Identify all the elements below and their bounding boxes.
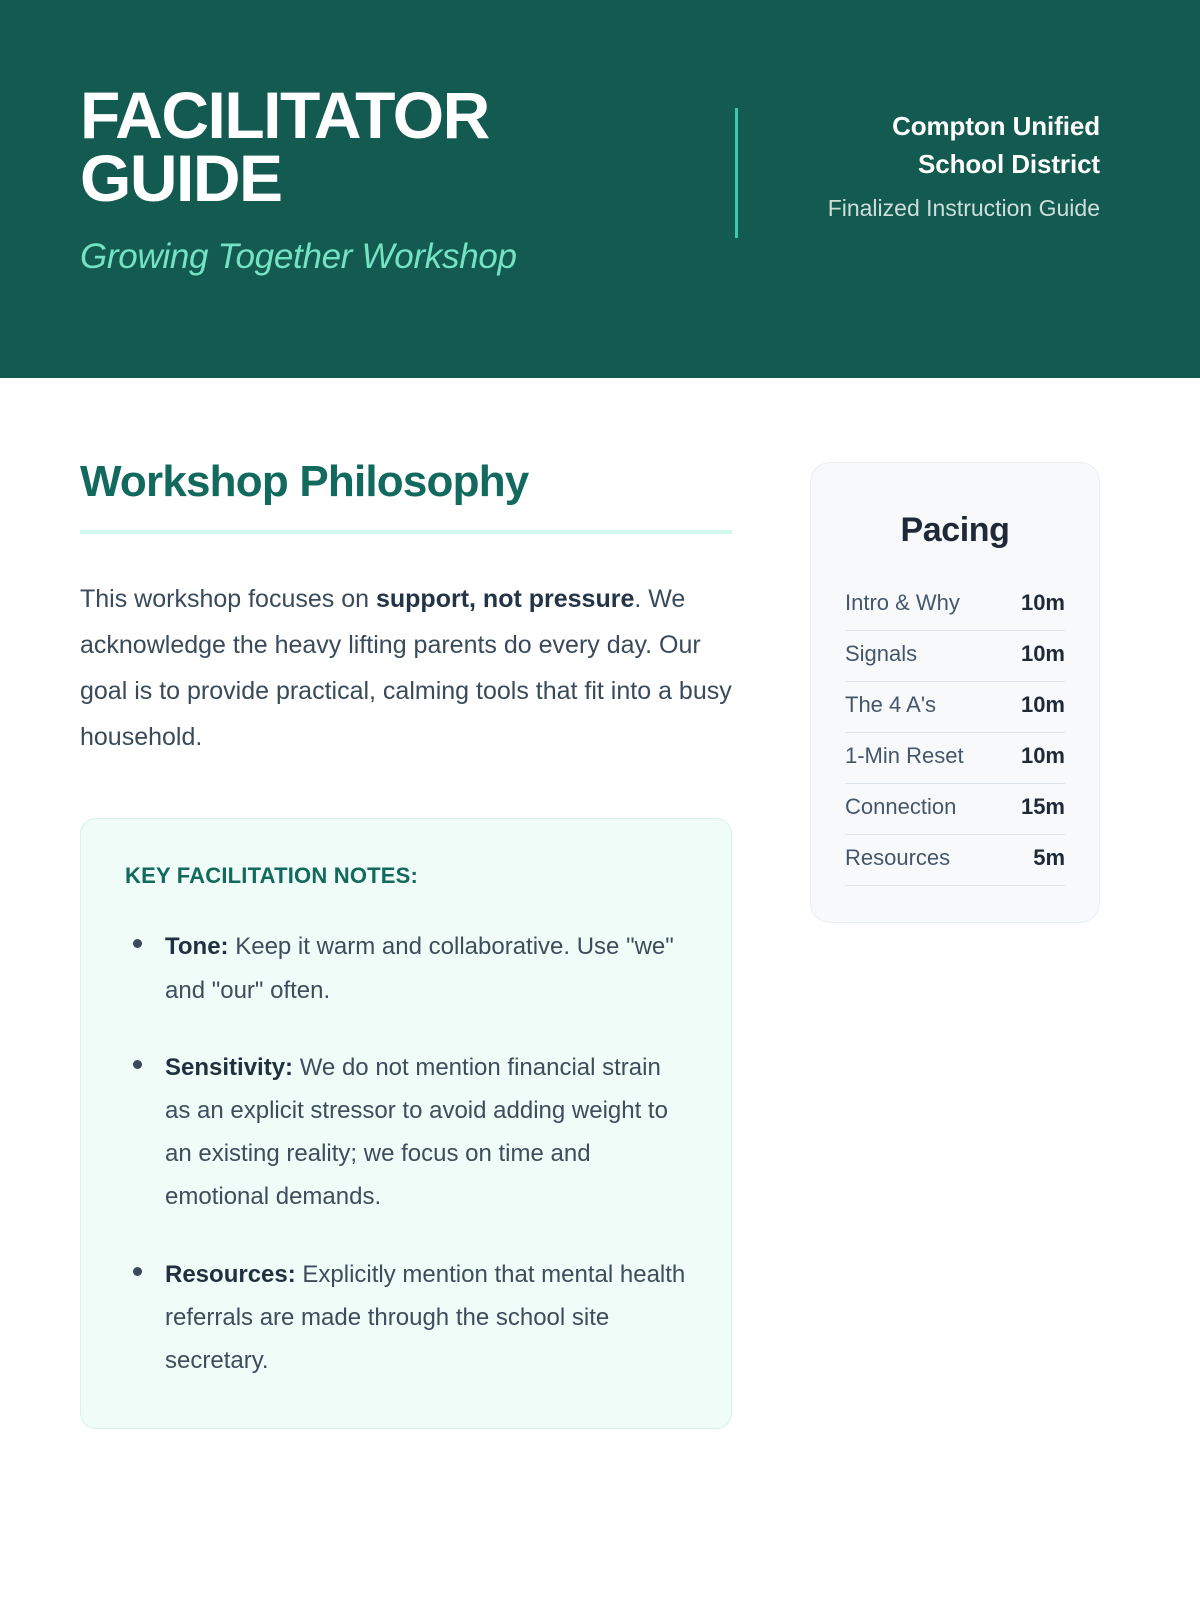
document-status-note: Finalized Instruction Guide: [828, 195, 1100, 222]
document-subtitle: Growing Together Workshop: [80, 237, 640, 277]
pacing-row-duration: 10m: [1021, 590, 1065, 616]
note-label: Sensitivity:: [165, 1054, 293, 1081]
pacing-row-duration: 15m: [1021, 794, 1065, 820]
note-text: Keep it warm and collaborative. Use "we"…: [165, 933, 674, 1003]
pacing-row: Resources 5m: [845, 835, 1065, 886]
bullet-icon: [133, 1267, 142, 1276]
pacing-row-label: Resources: [845, 845, 950, 871]
section-title-underline: [80, 530, 732, 534]
note-label: Tone:: [165, 933, 229, 960]
pacing-row-label: 1-Min Reset: [845, 743, 964, 769]
pacing-card-title: Pacing: [845, 511, 1065, 550]
main-column: Workshop Philosophy This workshop focuse…: [80, 458, 732, 1429]
pacing-row-label: Intro & Why: [845, 590, 960, 616]
header-left-block: FACILITATOR GUIDE Growing Together Works…: [80, 82, 640, 277]
pacing-row: The 4 A's 10m: [845, 682, 1065, 733]
organization-name-line1: Compton Unified: [828, 108, 1100, 146]
note-label: Resources:: [165, 1261, 296, 1288]
philosophy-paragraph: This workshop focuses on support, not pr…: [80, 576, 732, 760]
pacing-row-label: Connection: [845, 794, 956, 820]
list-item: Tone: Keep it warm and collaborative. Us…: [125, 925, 687, 1011]
content-area: Workshop Philosophy This workshop focuse…: [0, 378, 1200, 1429]
pacing-card: Pacing Intro & Why 10m Signals 10m The 4…: [810, 462, 1100, 923]
pacing-row: 1-Min Reset 10m: [845, 733, 1065, 784]
list-item: Sensitivity: We do not mention financial…: [125, 1046, 687, 1219]
pacing-row: Connection 15m: [845, 784, 1065, 835]
organization-name-line2: School District: [828, 146, 1100, 184]
pacing-row-duration: 10m: [1021, 743, 1065, 769]
pacing-row: Intro & Why 10m: [845, 580, 1065, 631]
bullet-icon: [133, 1060, 142, 1069]
pacing-row-duration: 10m: [1021, 692, 1065, 718]
facilitator-guide-page: FACILITATOR GUIDE Growing Together Works…: [0, 0, 1200, 1600]
bullet-icon: [133, 939, 142, 948]
pacing-row: Signals 10m: [845, 631, 1065, 682]
list-item: Resources: Explicitly mention that menta…: [125, 1253, 687, 1383]
key-facilitation-notes-card: KEY FACILITATION NOTES: Tone: Keep it wa…: [80, 818, 732, 1429]
section-title: Workshop Philosophy: [80, 458, 732, 506]
pacing-row-duration: 10m: [1021, 641, 1065, 667]
pacing-row-label: The 4 A's: [845, 692, 936, 718]
pacing-row-duration: 5m: [1033, 845, 1065, 871]
philosophy-text-part1: This workshop focuses on: [80, 585, 376, 613]
header-vertical-divider: [735, 108, 738, 238]
document-header: FACILITATOR GUIDE Growing Together Works…: [0, 0, 1200, 378]
philosophy-emphasis: support, not pressure: [376, 585, 634, 613]
header-meta: Compton Unified School District Finalize…: [828, 108, 1100, 238]
notes-card-heading: KEY FACILITATION NOTES:: [125, 863, 687, 889]
pacing-row-label: Signals: [845, 641, 917, 667]
notes-list: Tone: Keep it warm and collaborative. Us…: [125, 925, 687, 1382]
header-right-block: Compton Unified School District Finalize…: [735, 82, 1100, 238]
document-title: FACILITATOR GUIDE: [80, 84, 640, 211]
sidebar-column: Pacing Intro & Why 10m Signals 10m The 4…: [810, 458, 1100, 923]
